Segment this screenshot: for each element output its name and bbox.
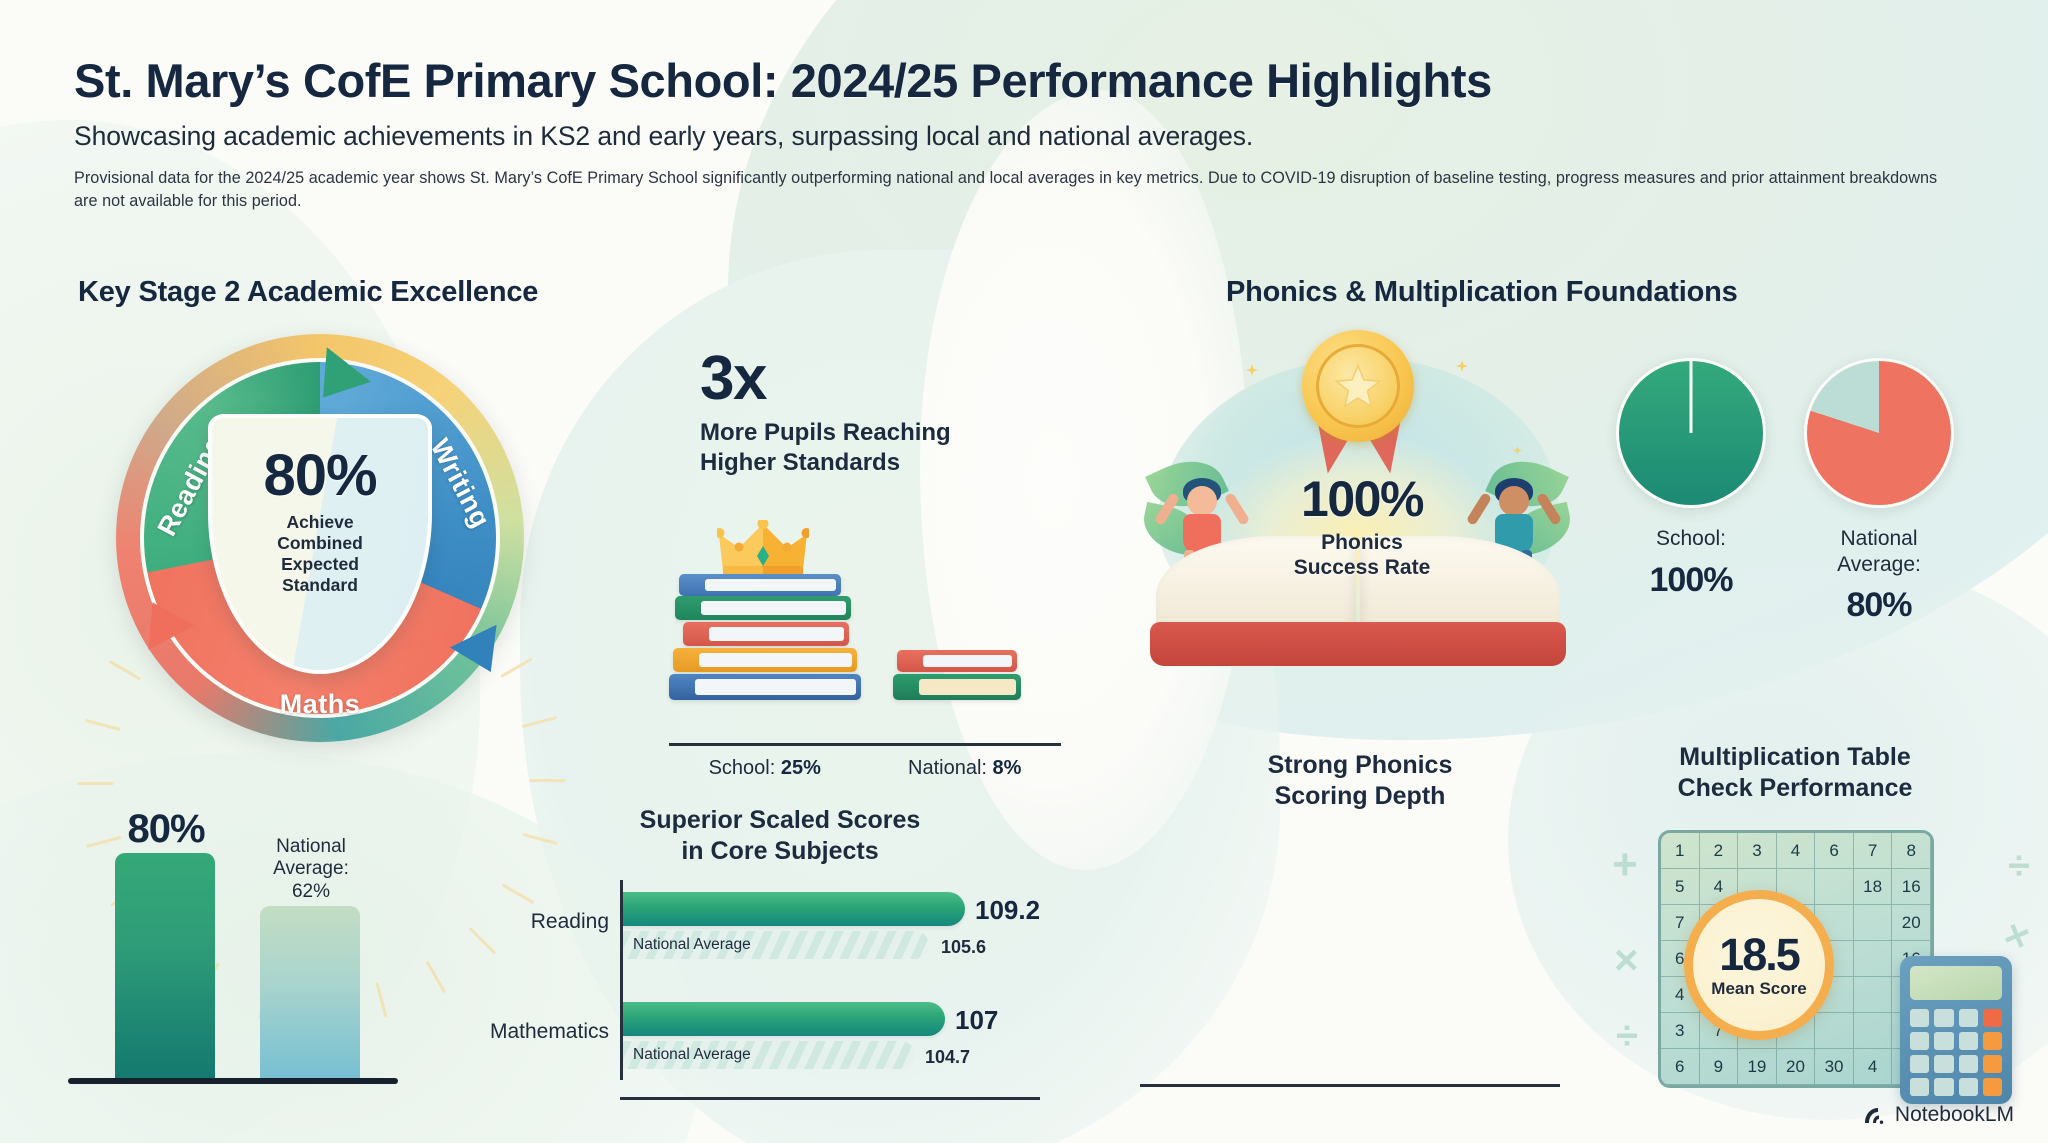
calculator-icon bbox=[1900, 956, 2012, 1104]
star-icon bbox=[1334, 362, 1382, 410]
multiplication-grid-cell: 30 bbox=[1815, 1049, 1854, 1085]
scaled-value-reading-school: 109.2 bbox=[975, 895, 1040, 926]
mtc-mean-score-label: Mean Score bbox=[1711, 979, 1806, 999]
multiplication-grid-cell: 4 bbox=[1777, 833, 1816, 869]
higher-standards-stat: 3x More Pupils Reaching Higher Standards bbox=[700, 348, 1040, 478]
mtc-mean-score-value: 18.5 bbox=[1719, 932, 1799, 977]
pie-chart-national bbox=[1804, 358, 1954, 508]
sparkle-icon-right bbox=[1456, 360, 1468, 372]
pie-national-label: NationalAverage: bbox=[1794, 526, 1964, 577]
book-small-red bbox=[897, 650, 1017, 672]
depth-heading-line1: Strong Phonics bbox=[1210, 750, 1510, 781]
books-caption-row: School: 25% National: 8% bbox=[665, 757, 1065, 780]
multiplication-grid-cell: 3 bbox=[1738, 833, 1777, 869]
multiplication-grid-cell: 2 bbox=[1700, 833, 1739, 869]
pie-school-label: School: bbox=[1606, 526, 1776, 552]
books-national-label: National: bbox=[908, 757, 987, 779]
pie-national-value: 80% bbox=[1794, 585, 1964, 626]
multiplication-grid-cell bbox=[1815, 1013, 1854, 1049]
phonics-label-line1: Phonics bbox=[1262, 530, 1462, 555]
multiplication-grid-cell: 16 bbox=[1892, 869, 1931, 905]
higher-standards-label: More Pupils Reaching Higher Standards bbox=[700, 418, 1040, 478]
books-national-value: 8% bbox=[993, 757, 1022, 779]
book-blue-top bbox=[679, 574, 841, 596]
book-blue-bottom bbox=[669, 674, 861, 700]
scaled-heading-line2: in Core Subjects bbox=[600, 836, 960, 867]
multiply-icon-2: × bbox=[1997, 911, 2036, 961]
notebooklm-logo-icon bbox=[1862, 1103, 1886, 1127]
calculator-keys bbox=[1910, 1009, 2002, 1096]
header: St. Mary’s CofE Primary School: 2024/25 … bbox=[74, 56, 1974, 213]
caption-line-4: Standard bbox=[277, 575, 363, 596]
ks2-combined-standard-badge: Reading Writing Maths 80% Achieve Combin… bbox=[100, 318, 540, 758]
book-red bbox=[683, 622, 849, 646]
scaled-bar-reading-school bbox=[623, 892, 965, 926]
mtc-heading-line2: Check Performance bbox=[1630, 773, 1960, 804]
section-heading-phonics: Phonics & Multiplication Foundations bbox=[1226, 276, 1738, 309]
multiplication-grid-cell: 19 bbox=[1738, 1049, 1777, 1085]
book-green bbox=[675, 596, 851, 620]
books-caption-school: School: 25% bbox=[709, 757, 821, 780]
phonics-chart-baseline bbox=[1140, 1084, 1560, 1087]
multiplication-grid-cell: 5 bbox=[1661, 869, 1700, 905]
mtc-heading-line1: Multiplication Table bbox=[1630, 742, 1960, 773]
scaled-row-reading: Reading National Average 109.2 105.6 bbox=[623, 892, 965, 959]
divide-icon-2: ÷ bbox=[1616, 1014, 1638, 1059]
book-stack-illustration: School: 25% National: 8% bbox=[665, 520, 1065, 780]
sparkle-icon-left bbox=[1246, 364, 1258, 376]
scaled-bar-maths-national: National Average bbox=[623, 1041, 915, 1069]
scaled-scores-heading: Superior Scaled Scores in Core Subjects bbox=[600, 805, 960, 866]
scaled-row-mathematics: Mathematics National Average 107 104.7 bbox=[623, 1002, 953, 1069]
bar-school bbox=[115, 853, 215, 1078]
books-school-label: School: bbox=[709, 757, 776, 779]
multiplication-grid-cell: 4 bbox=[1854, 1049, 1893, 1085]
infographic-canvas: St. Mary’s CofE Primary School: 2024/25 … bbox=[0, 0, 2048, 1143]
page-subtitle: Showcasing academic achievements in KS2 … bbox=[74, 121, 1974, 152]
ks2-bar-national-label: NationalAverage:62% bbox=[238, 836, 384, 904]
multiplication-grid-cell bbox=[1854, 1013, 1893, 1049]
scaled-value-maths-school: 107 bbox=[955, 1005, 998, 1036]
divide-icon: ÷ bbox=[2008, 844, 2030, 889]
scaled-bar-reading-national: National Average bbox=[623, 931, 929, 959]
award-medal-icon bbox=[1302, 330, 1414, 442]
pie-caption-school: School: 100% bbox=[1606, 526, 1776, 601]
multiplication-grid-cell: 9 bbox=[1700, 1049, 1739, 1085]
ks2-combined-caption: Achieve Combined Expected Standard bbox=[277, 512, 363, 596]
notebooklm-watermark: NotebookLM bbox=[1862, 1103, 2014, 1127]
multiplication-grid-cell: 20 bbox=[1777, 1049, 1816, 1085]
multiplication-grid-cell: 6 bbox=[1815, 833, 1854, 869]
caption-line-3: Expected bbox=[277, 554, 363, 575]
higher-standards-multiplier: 3x bbox=[700, 348, 1040, 410]
multiplication-grid-cell bbox=[1815, 869, 1854, 905]
page-title: St. Mary’s CofE Primary School: 2024/25 … bbox=[74, 56, 1974, 107]
ks2-combined-percent: 80% bbox=[263, 442, 376, 509]
mtc-heading: Multiplication Table Check Performance bbox=[1630, 742, 1960, 803]
scaled-category-mathematics: Mathematics bbox=[490, 1020, 609, 1044]
multiplication-grid-cell bbox=[1854, 941, 1893, 977]
pie-chart-school bbox=[1616, 358, 1766, 508]
pie-school-value: 100% bbox=[1606, 560, 1776, 601]
scaled-bar-reading-national-label: National Average bbox=[633, 936, 751, 954]
notebooklm-label: NotebookLM bbox=[1895, 1103, 2014, 1127]
multiplication-grid-cell: 3 bbox=[1661, 1013, 1700, 1049]
books-caption-national: National: 8% bbox=[908, 757, 1021, 780]
multiplication-grid-cell: 20 bbox=[1892, 905, 1931, 941]
ks2-comparison-bar-chart: 80% NationalAverage:62% bbox=[60, 800, 430, 1100]
scaled-chart-x-axis bbox=[620, 1097, 1040, 1100]
phonics-pass-rate-pies: School: 100% NationalAverage: 80% bbox=[1608, 358, 2008, 678]
multiplication-grid-cell: 1 bbox=[1661, 833, 1700, 869]
scaled-value-reading-national: 105.6 bbox=[941, 937, 986, 958]
multiplication-grid-cell: 7 bbox=[1854, 833, 1893, 869]
book-orange bbox=[673, 648, 857, 672]
book-small-green bbox=[893, 674, 1021, 700]
higher-standards-label-line2: Higher Standards bbox=[700, 448, 1040, 478]
multiplication-grid-cell bbox=[1854, 905, 1893, 941]
phonics-success-stat: 100% Phonics Success Rate bbox=[1262, 470, 1462, 580]
scaled-scores-chart: Reading National Average 109.2 105.6 Mat… bbox=[620, 880, 1040, 1100]
mtc-illustration: + ÷ × × ÷ 123467854181672061643769192030… bbox=[1624, 818, 2024, 1108]
crown-icon bbox=[717, 520, 809, 578]
multiplication-grid-cell bbox=[1854, 977, 1893, 1013]
scaled-heading-line1: Superior Scaled Scores bbox=[600, 805, 960, 836]
phonics-percent: 100% bbox=[1262, 470, 1462, 528]
caption-line-1: Achieve bbox=[277, 512, 363, 533]
phonics-label-line2: Success Rate bbox=[1262, 555, 1462, 580]
bar-national-average bbox=[260, 906, 360, 1078]
scaled-category-reading: Reading bbox=[531, 910, 609, 934]
plus-icon: + bbox=[1612, 840, 1638, 890]
mtc-mean-score-badge: 18.5 Mean Score bbox=[1684, 890, 1834, 1040]
calculator-screen bbox=[1910, 966, 2002, 1000]
depth-heading-line2: Scoring Depth bbox=[1210, 781, 1510, 812]
multiplication-grid-cell: 8 bbox=[1892, 833, 1931, 869]
pie-caption-national: NationalAverage: 80% bbox=[1794, 526, 1964, 627]
books-school-value: 25% bbox=[781, 757, 821, 779]
phonics-label: Phonics Success Rate bbox=[1262, 530, 1462, 580]
books-baseline bbox=[669, 743, 1061, 746]
scaled-bar-maths-national-label: National Average bbox=[633, 1046, 751, 1064]
badge-label-maths: Maths bbox=[100, 689, 540, 720]
ks2-bar-school-value: 80% bbox=[108, 807, 224, 852]
multiplication-grid-cell: 6 bbox=[1661, 1049, 1700, 1085]
higher-standards-label-line1: More Pupils Reaching bbox=[700, 418, 1040, 448]
phonics-depth-heading: Strong Phonics Scoring Depth bbox=[1210, 750, 1510, 811]
scaled-bar-maths-school bbox=[623, 1002, 945, 1036]
multiplication-grid-cell: 18 bbox=[1854, 869, 1893, 905]
multiply-icon: × bbox=[1614, 936, 1639, 984]
intro-paragraph: Provisional data for the 2024/25 academi… bbox=[74, 167, 1954, 213]
caption-line-2: Combined bbox=[277, 533, 363, 554]
scaled-value-maths-national: 104.7 bbox=[925, 1047, 970, 1068]
bar-chart-baseline bbox=[68, 1078, 398, 1084]
